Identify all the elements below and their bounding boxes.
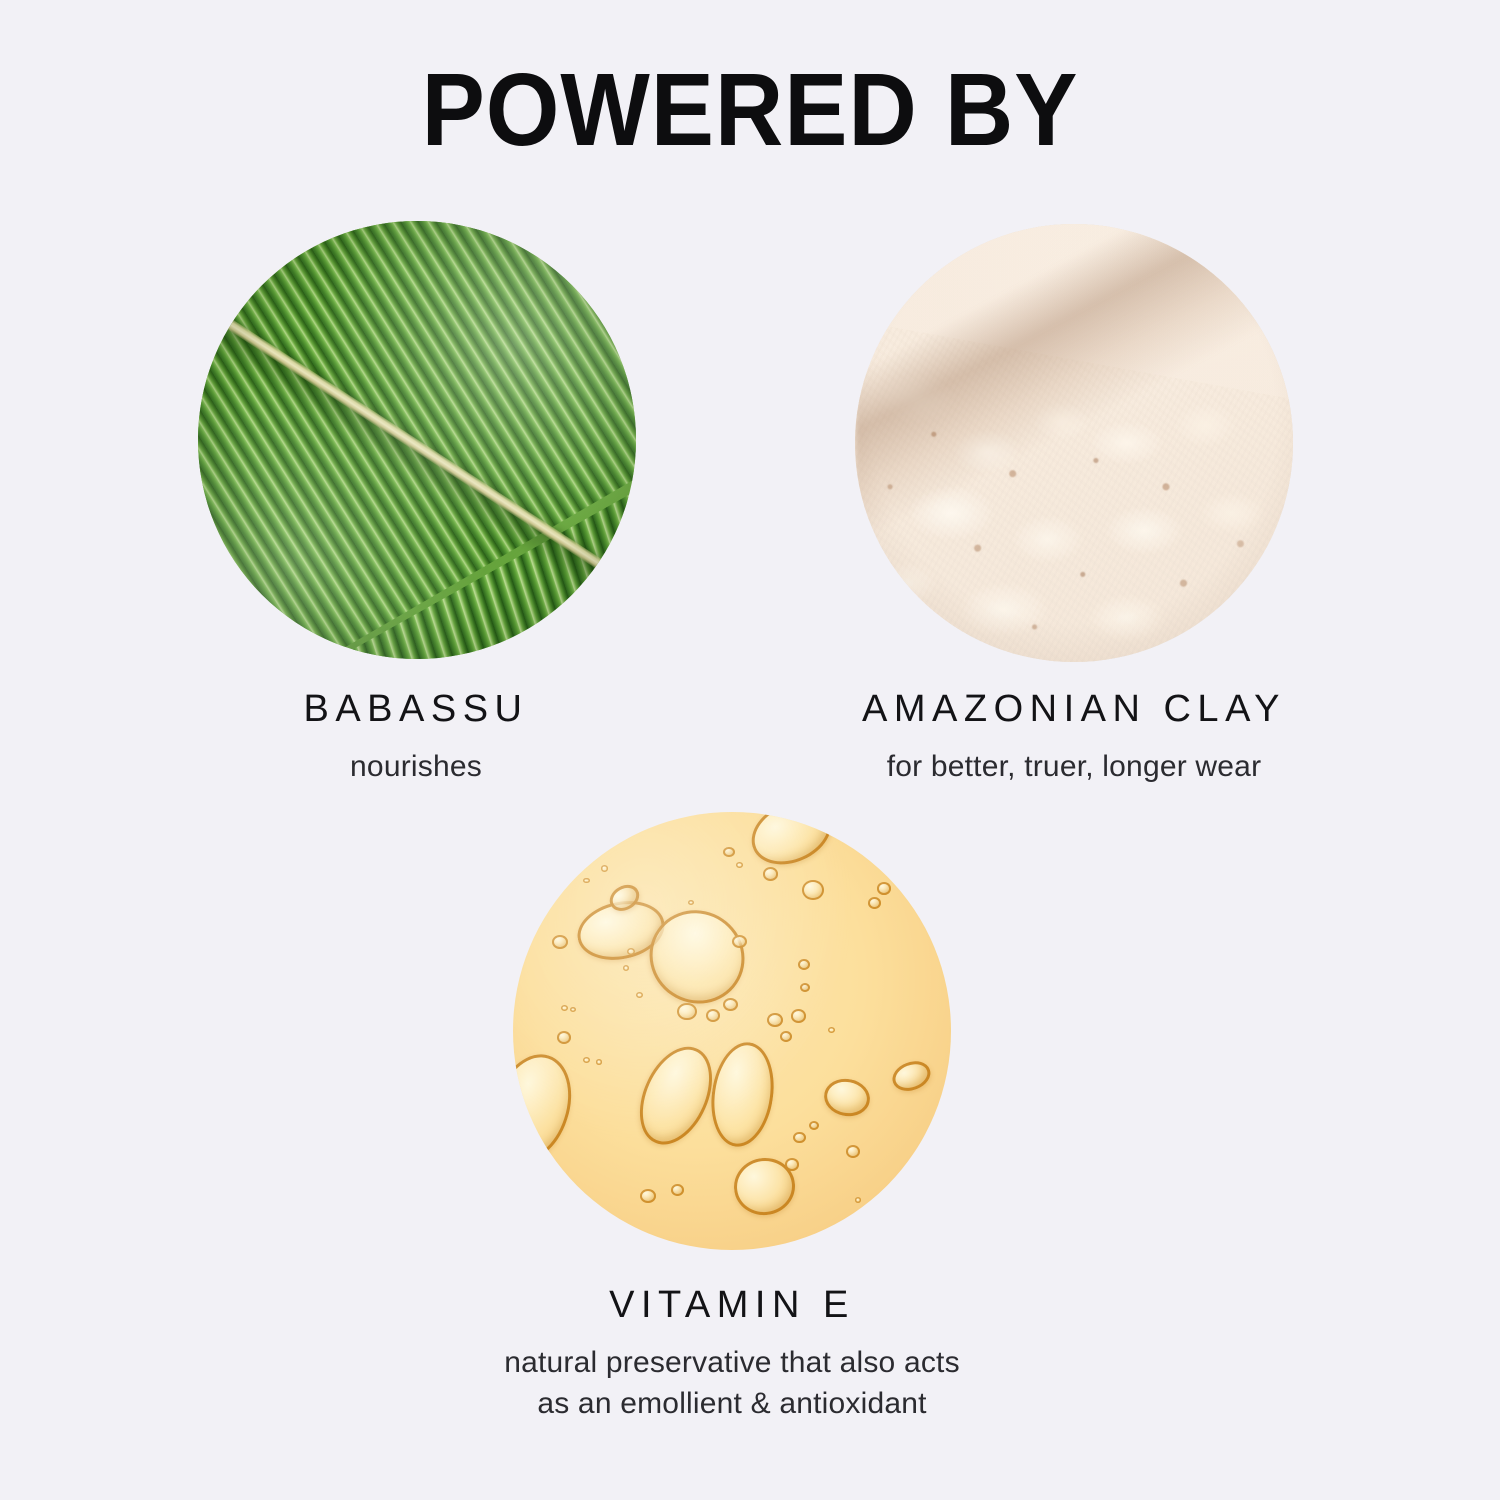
clay-vignette [855,224,1293,662]
oil-bubble [732,935,747,948]
oil-bubble [793,1132,805,1143]
vitamin-e-name: VITAMIN E [472,1283,992,1329]
vitamin-e-oil-image [513,812,951,1250]
babassu-name: BABASSU [156,687,676,733]
vitamin-e-description-line-1: natural preservative that also acts [472,1343,992,1383]
babassu-description: nourishes [156,747,676,787]
vitamin-e-caption: VITAMIN E natural preservative that also… [472,1283,992,1424]
oil-bubble [846,1145,860,1158]
oil-bubble [791,1009,806,1023]
amazonian-clay-caption: AMAZONIAN CLAY for better, truer, longer… [814,687,1334,786]
amazonian-clay-powder-image [855,224,1293,662]
oil-bubble [736,862,743,868]
oil-bubble [798,959,810,970]
oil-bubble [868,897,881,909]
amazonian-clay-name: AMAZONIAN CLAY [814,687,1334,733]
leaf-gloss [198,221,636,659]
oil-bubble [636,992,643,998]
oil-bubble [552,935,568,949]
oil-bubble [763,867,779,881]
oil-bubble [723,847,734,857]
page-title: POWERED BY [60,56,1440,164]
oil-bubble [623,965,629,971]
oil-bubble [561,1005,568,1011]
babassu-caption: BABASSU nourishes [156,687,676,786]
amazonian-clay-description: for better, truer, longer wear [814,747,1334,787]
oil-bubble [706,1009,720,1022]
oil-bubble [596,1059,602,1064]
oil-bubble [828,1027,835,1033]
oil-bubble [802,880,824,900]
babassu-leaf-image [198,221,636,659]
oil-bubble [671,1184,684,1196]
oil-bubble [677,1003,697,1021]
oil-bubble [583,878,590,884]
oil-bubble [557,1031,571,1044]
ingredient-infographic: POWERED BY BABASSU nourishes AMAZON [0,0,1500,1500]
oil-bubble [640,1189,656,1203]
oil-bubble [601,865,609,872]
oil-bubble [627,948,635,955]
vitamin-e-description-line-2: as an emollient & antioxidant [472,1384,992,1424]
oil-base [513,812,951,1250]
